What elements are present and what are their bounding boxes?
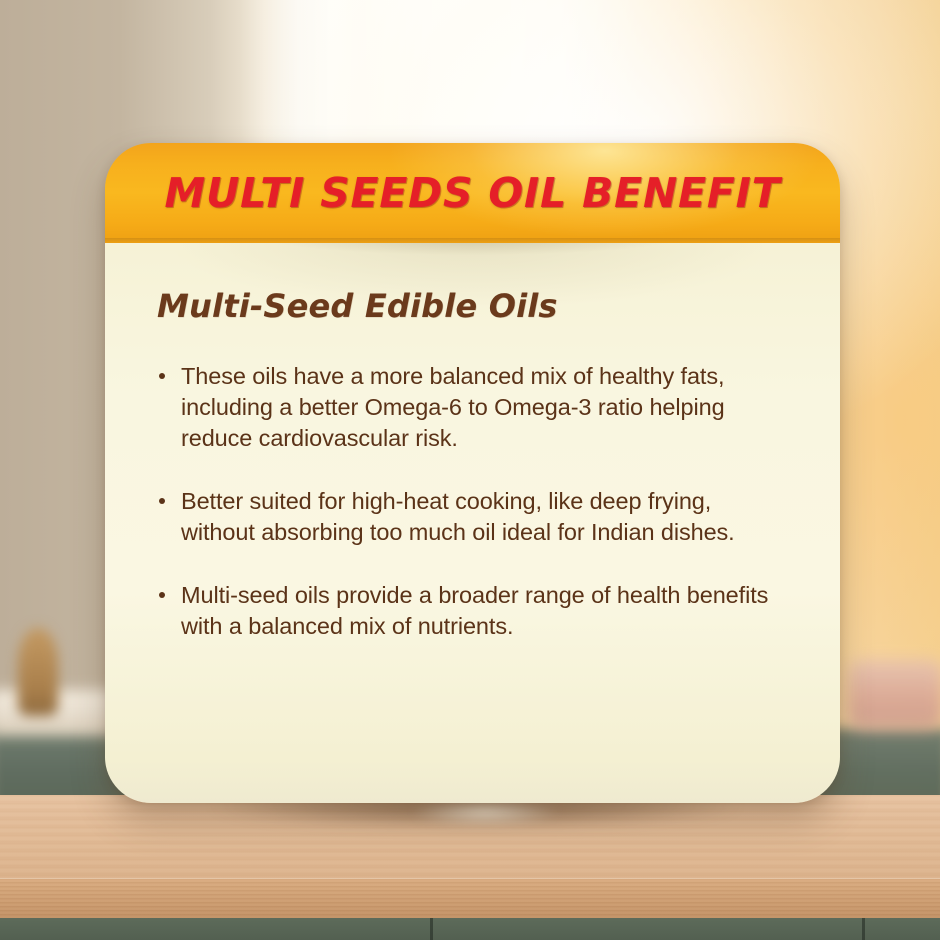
benefit-card: MULTI SEEDS OIL BENEFIT Multi-Seed Edibl… (105, 143, 840, 803)
bullet-dot-icon (159, 373, 165, 379)
background-object (848, 660, 940, 730)
list-item-text: Better suited for high-heat cooking, lik… (181, 486, 788, 548)
page-title: MULTI SEEDS OIL BENEFIT (154, 169, 790, 217)
list-item: Better suited for high-heat cooking, lik… (157, 486, 788, 548)
card-header: MULTI SEEDS OIL BENEFIT (105, 143, 840, 243)
list-item: These oils have a more balanced mix of h… (157, 361, 788, 454)
benefits-list: These oils have a more balanced mix of h… (157, 361, 788, 642)
card-body: Multi-Seed Edible Oils These oils have a… (105, 243, 840, 803)
poster-canvas: MULTI SEEDS OIL BENEFIT Multi-Seed Edibl… (0, 0, 940, 940)
cabinet-seam (862, 918, 865, 940)
list-item-text: Multi-seed oils provide a broader range … (181, 580, 788, 642)
wood-grain-texture (0, 878, 940, 920)
list-item: Multi-seed oils provide a broader range … (157, 580, 788, 642)
bullet-dot-icon (159, 498, 165, 504)
cabinet-seam (430, 918, 433, 940)
wood-counter-edge (0, 878, 940, 920)
list-item-text: These oils have a more balanced mix of h… (181, 361, 788, 454)
bullet-dot-icon (159, 592, 165, 598)
card-subtitle: Multi-Seed Edible Oils (157, 287, 788, 325)
front-cabinet (0, 918, 940, 940)
pepper-grinder-icon (18, 628, 58, 716)
